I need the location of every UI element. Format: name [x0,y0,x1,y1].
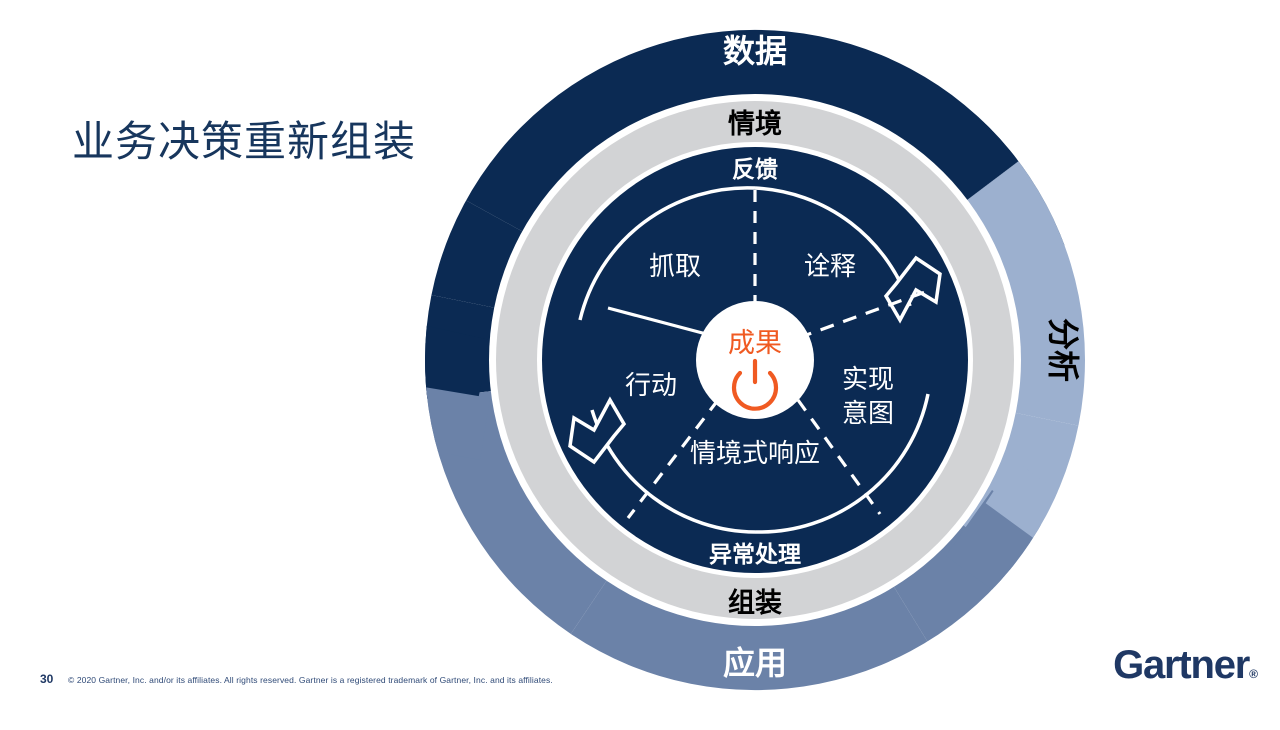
page-title: 业务决策重新组装 [72,118,416,166]
core-label-action: 行动 [625,370,677,400]
inner-label-feedback: 反馈 [732,156,778,182]
gartner-logo: Gartner® [1113,645,1258,685]
copyright-notice: © 2020 Gartner, Inc. and/or its affiliat… [68,675,553,685]
concentric-cycle-diagram: 数据 分析 应用 情境 组装 反馈 异常处理 抓取 诠释 实现 意图 情境式响应… [380,0,1140,730]
core-label-interpret: 诠释 [804,251,856,281]
outer-label-analysis: 分析 [1045,318,1081,382]
outer-notch-top-right [988,35,1115,160]
slide-canvas: 业务决策重新组装 [0,0,1280,720]
outer-label-data: 数据 [723,33,787,69]
middle-label-assemble: 组装 [728,587,782,618]
core-label-intent-line1: 实现 [842,364,894,394]
core-label-contextual-response: 情境式响应 [690,438,820,468]
page-number: 30 [40,672,53,686]
outer-label-application: 应用 [723,645,787,681]
core-label-capture: 抓取 [649,251,701,281]
gartner-logo-text: Gartner [1113,643,1249,687]
core-label-intent-line2: 意图 [842,398,894,428]
center-label-outcome: 成果 [728,328,782,358]
registered-trademark-icon: ® [1249,667,1258,681]
inner-label-exception: 异常处理 [709,541,801,567]
middle-label-context: 情境 [728,109,782,139]
